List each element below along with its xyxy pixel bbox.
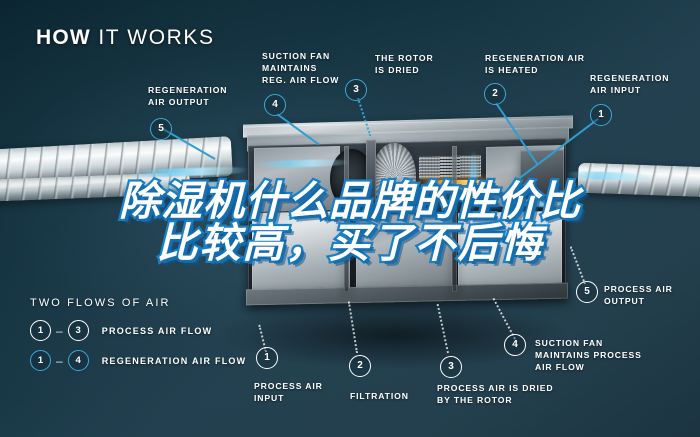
legend-label-process-air-flow: PROCESS AIR FLOW [102,326,213,336]
legend-marker-from-1-cyan: 1 [30,350,51,371]
marker-4-suction-fan-reg[interactable]: 4 [264,94,286,116]
legend-marker-to-3: 3 [68,320,89,341]
callout-suction-fan-reg-air-flow: SUCTION FAN MAINTAINS REG. AIR FLOW [262,50,339,87]
marker-1-reg-air-input[interactable]: 1 [590,104,612,126]
legend-marker-from-1: 1 [30,320,51,341]
callout-process-air-output: PROCESS AIR OUTPUT [604,283,673,307]
callout-filtration: FILTRATION [350,390,409,402]
page-title-light: IT WORKS [98,26,214,49]
marker-5-process-air-output[interactable]: 5 [576,281,598,303]
legend-dash: – [56,325,63,337]
callout-process-air-is-dried-by-the-rotor: PROCESS AIR IS DRIED BY THE ROTOR [437,382,554,406]
overlay-line-1: 除湿机什么品牌的性价比 [0,180,700,222]
page-title-bold: HOW [36,26,91,49]
chinese-overlay-text: 除湿机什么品牌的性价比 比较高，买了不后悔 [0,180,700,264]
marker-4-suction-fan-process[interactable]: 4 [504,334,526,356]
marker-3-process-air-dried[interactable]: 3 [440,356,462,378]
callout-process-air-input: PROCESS AIR INPUT [254,380,323,404]
how-it-works-infographic: HOW IT WORKS 5 4 3 2 1 5 4 1 2 3 REGENER… [0,0,700,437]
legend-dash-2: – [56,355,63,367]
legend-row-process-air-flow: 1 – 3 PROCESS AIR FLOW [30,320,246,341]
callout-regeneration-air-output: REGENERATION AIR OUTPUT [148,84,227,108]
legend-row-regeneration-air-flow: 1 – 4 REGENERATION AIR FLOW [30,350,246,371]
marker-1-process-air-input[interactable]: 1 [256,347,278,369]
legend-title: TWO FLOWS OF AIR [30,297,246,309]
marker-3-rotor-dried[interactable]: 3 [345,79,367,101]
marker-2-filtration[interactable]: 2 [349,355,371,377]
callout-regeneration-air-is-heated: REGENERATION AIR IS HEATED [485,52,585,76]
overlay-line-2: 比较高，买了不后悔 [0,222,700,264]
legend: TWO FLOWS OF AIR 1 – 3 PROCESS AIR FLOW … [30,297,246,380]
callout-regeneration-air-input: REGENERATION AIR INPUT [590,72,669,96]
legend-marker-to-4-cyan: 4 [68,350,89,371]
marker-2-reg-air-heated[interactable]: 2 [484,83,506,105]
callout-the-rotor-is-dried: THE ROTOR IS DRIED [375,52,434,76]
page-title: HOW IT WORKS [36,26,215,50]
callout-suction-fan-maintains-process-air-flow: SUCTION FAN MAINTAINS PROCESS AIR FLOW [535,337,642,374]
legend-label-regeneration-air-flow: REGENERATION AIR FLOW [102,356,247,366]
marker-5-regeneration-air-output[interactable]: 5 [150,118,172,140]
